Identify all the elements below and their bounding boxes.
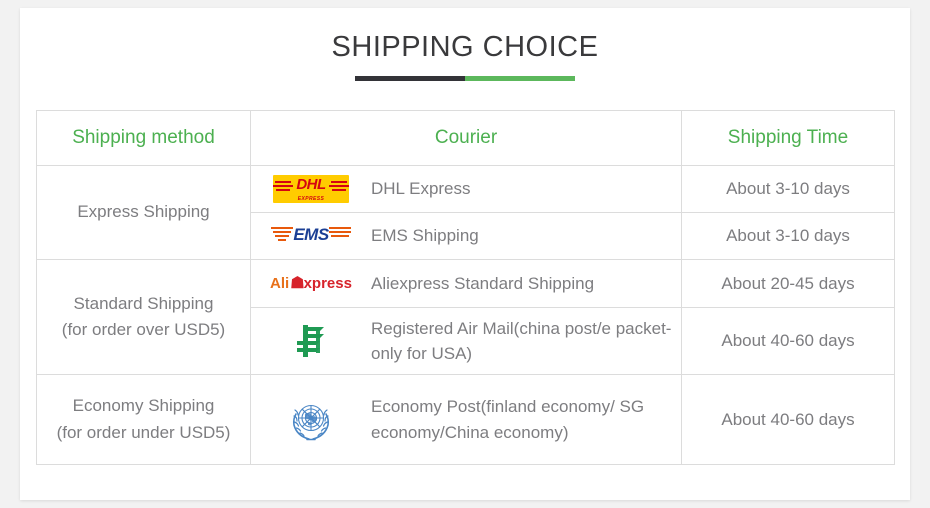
un-post-logo [251, 394, 371, 446]
title-underline-green-segment [465, 76, 575, 81]
courier-name: Registered Air Mail(china post/e packet-… [371, 316, 681, 367]
title-underline [355, 76, 575, 81]
table-row: Standard Shipping (for order over USD5) … [37, 260, 895, 308]
courier-cell-aliexpress: Ali☗xpress Aliexpress Standard Shipping [251, 260, 682, 308]
title-block: SHIPPING CHOICE [20, 8, 910, 81]
table-body: Express Shipping [37, 166, 895, 465]
courier-name: DHL Express [371, 176, 479, 202]
column-header-shipping-method: Shipping method [37, 111, 251, 166]
china-post-emblem-icon [289, 319, 333, 363]
column-header-shipping-time: Shipping Time [682, 111, 895, 166]
aliexpress-logo: Ali☗xpress [251, 276, 371, 292]
page-title: SHIPPING CHOICE [20, 32, 910, 64]
courier-cell-dhl: DHL EXPRESS DHL Express [251, 166, 682, 213]
table-row: Economy Shipping (for order under USD5) [37, 375, 895, 465]
shipping-time: About 40-60 days [682, 308, 895, 375]
table-row: Express Shipping [37, 166, 895, 213]
shipping-table: Shipping method Courier Shipping Time Ex… [36, 110, 895, 465]
shipping-time: About 3-10 days [682, 166, 895, 213]
method-line: Economy Shipping [37, 393, 250, 419]
title-underline-dark-segment [355, 76, 465, 81]
shipping-time: About 3-10 days [682, 213, 895, 260]
ems-logo: EMS [251, 222, 371, 250]
aliexpress-logo-ali: Ali [270, 276, 289, 291]
ems-logo-wordmark: EMS [271, 226, 351, 244]
aliexpress-logo-xpress: xpress [304, 276, 352, 291]
method-line: Standard Shipping [37, 291, 250, 317]
shipping-time: About 40-60 days [682, 375, 895, 465]
column-header-courier: Courier [251, 111, 682, 166]
courier-name: Aliexpress Standard Shipping [371, 271, 602, 297]
shipping-time: About 20-45 days [682, 260, 895, 308]
courier-name: EMS Shipping [371, 223, 487, 249]
table-header: Shipping method Courier Shipping Time [37, 111, 895, 166]
dhl-logo: DHL EXPRESS [251, 175, 371, 203]
dhl-logo-subtext: EXPRESS [273, 196, 349, 202]
courier-cell-un-post: Economy Post(finland economy/ SG economy… [251, 375, 682, 465]
china-post-logo [251, 319, 371, 363]
shopping-cart-icon: ☗ [290, 276, 304, 292]
method-line-note: (for order under USD5) [37, 420, 250, 446]
shipping-choice-card: SHIPPING CHOICE Shipping method Courier … [20, 8, 910, 500]
shipping-table-wrapper: Shipping method Courier Shipping Time Ex… [36, 110, 894, 465]
shipping-method-economy: Economy Shipping (for order under USD5) [37, 375, 251, 465]
courier-cell-ems: EMS EMS Shipping [251, 213, 682, 260]
table-header-row: Shipping method Courier Shipping Time [37, 111, 895, 166]
courier-cell-china-post: Registered Air Mail(china post/e packet-… [251, 308, 682, 375]
courier-name: Economy Post(finland economy/ SG economy… [371, 394, 681, 445]
method-line-note: (for order over USD5) [37, 317, 250, 343]
method-line: Express Shipping [37, 199, 250, 225]
shipping-method-express: Express Shipping [37, 166, 251, 260]
shipping-method-standard: Standard Shipping (for order over USD5) [37, 260, 251, 375]
dhl-logo-wordmark: DHL [273, 177, 349, 192]
united-nations-emblem-icon [285, 394, 337, 446]
